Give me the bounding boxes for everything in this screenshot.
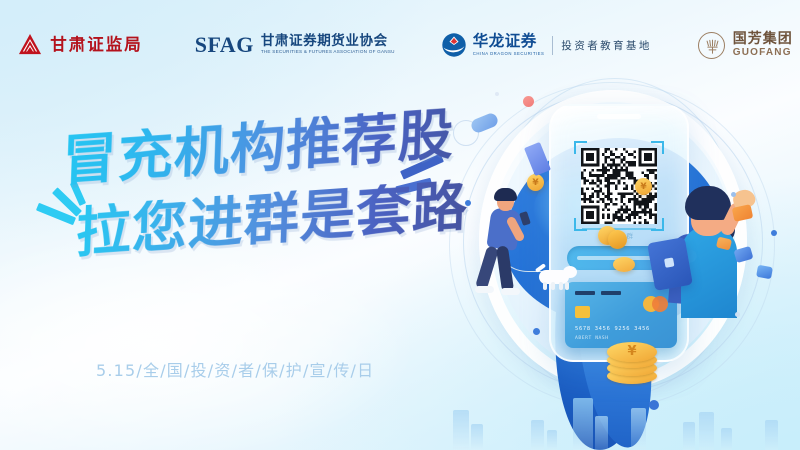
floating-dot (533, 328, 540, 335)
floating-square-blue (756, 265, 773, 279)
logo-guofang-label-en: GUOFANG (733, 47, 793, 60)
floating-coin-icon: ¥ (635, 178, 652, 195)
logo-gansu-csrc-label: 甘肃证监局 (50, 37, 143, 54)
logo-sfag-abbr: SFAG (195, 32, 254, 58)
slider-coin-icon (613, 257, 635, 272)
logo-divider (552, 36, 553, 55)
dog-icon (535, 264, 579, 290)
hero-illustration: 扫码进群 5678 3456 9256 3456 ABERT NASH ¥ ¥ … (435, 82, 800, 450)
headline-block: 冒充机构推荐股 拉您进群是套路 (0, 120, 470, 247)
poster-canvas: 甘肃证监局 SFAG 甘肃证券期货业协会 THE SECURITIES & FU… (0, 0, 800, 450)
floating-dot-pink (523, 96, 534, 107)
headline-line-2: 拉您进群是套路 (75, 178, 471, 261)
campaign-tagline: 5.15/全/国/投/资/者/保/护/宣/传/日 (96, 357, 374, 381)
floating-dot (771, 230, 777, 236)
card-number: 5678 3456 9256 3456 (575, 326, 650, 332)
floating-dot (495, 92, 499, 96)
logo-sfag: SFAG 甘肃证券期货业协会 THE SECURITIES & FUTURES … (195, 32, 395, 58)
logo-guofang-group: 国芳集团 GUOFANG (698, 31, 793, 60)
dragon-wave-emblem-icon (441, 32, 467, 58)
card-chip-icon (575, 306, 590, 318)
guofang-circle-emblem-icon (698, 32, 725, 59)
phone-speaker (597, 114, 641, 119)
logo-sfag-label-en: THE SECURITIES & FUTURES ASSOCIATION OF … (261, 49, 395, 56)
logo-investor-education-base-label: 投资者教育基地 (561, 38, 651, 53)
floating-coin-icon: ¥ (527, 174, 544, 191)
floating-coin-icon (608, 230, 627, 249)
city-skyline (435, 364, 800, 450)
tablet-icon (647, 237, 693, 291)
logo-china-dragon-label-en: CHINA DRAGON SECURITIES (473, 51, 545, 57)
floating-dot (735, 312, 740, 317)
handheld-phone-icon (519, 211, 531, 226)
logo-sfag-label-cn: 甘肃证券期货业协会 (261, 34, 395, 49)
red-triangle-emblem-icon (17, 32, 43, 58)
coin-currency-symbol: ¥ (607, 342, 657, 362)
partner-logo-bar: 甘肃证监局 SFAG 甘肃证券期货业协会 THE SECURITIES & FU… (0, 25, 800, 65)
logo-guofang-label-cn: 国芳集团 (733, 31, 793, 47)
logo-gansu-csrc: 甘肃证监局 (17, 32, 143, 58)
floating-dot (731, 192, 736, 197)
card-holder-name: ABERT NASH (575, 336, 609, 341)
logo-china-dragon-label-cn: 华龙证券 (473, 33, 545, 51)
logo-china-dragon-securities: 华龙证券 CHINA DRAGON SECURITIES 投资者教育基地 (441, 32, 652, 58)
